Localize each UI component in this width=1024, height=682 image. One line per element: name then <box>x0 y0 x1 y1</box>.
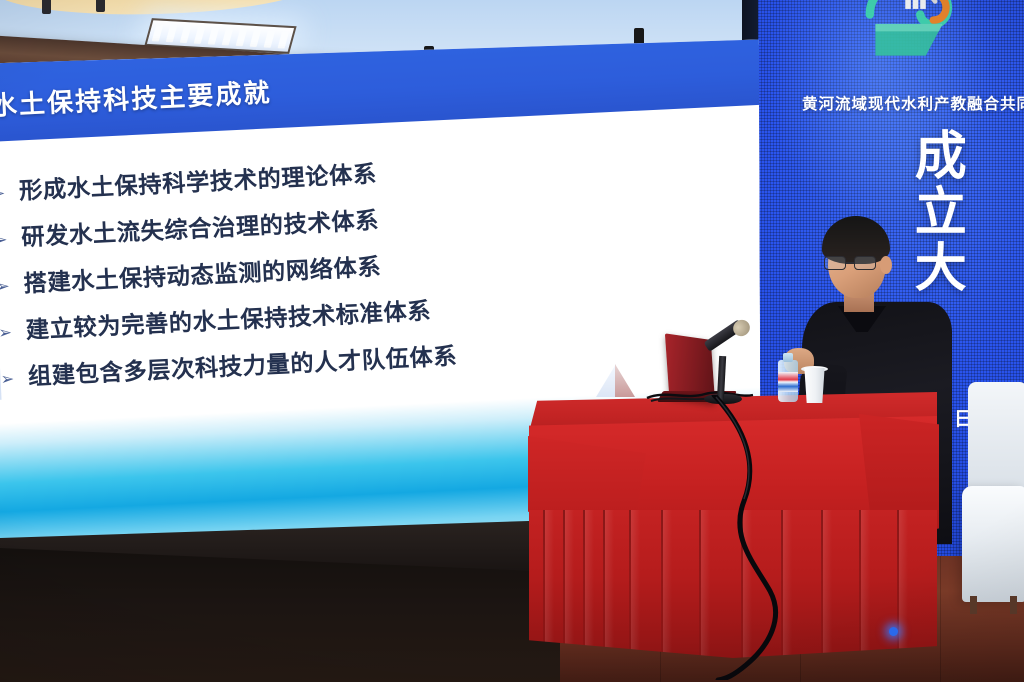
covered-chair <box>962 470 1024 620</box>
bullet-arrow-icon: ➢ <box>0 325 12 342</box>
speaker-ear <box>880 256 892 274</box>
presentation-scene: 黄河流域现代水利产教融合共同 成立大 日 水土保持科技主要成就 五大体系 ➢ 形… <box>0 0 1024 682</box>
ceiling-hook-icon <box>96 0 105 12</box>
water-bottle-label <box>778 372 798 392</box>
slide-bullet-list: ➢ 形成水土保持科学技术的理论体系 ➢ 研发水土流失综合治理的技术体系 ➢ 搭建… <box>0 143 656 406</box>
tent-card-right-face <box>615 364 635 397</box>
glasses-icon <box>824 256 880 271</box>
slide-title-band: 水土保持科技主要成就 <box>0 35 761 147</box>
list-item-label: 建立较为完善的水土保持技术标准体系 <box>25 293 432 346</box>
bullet-arrow-icon: ➢ <box>0 371 14 388</box>
list-item-label: 研发水土流失综合治理的技术体系 <box>21 202 380 253</box>
table-skirt <box>529 510 937 658</box>
glasses-bridge <box>846 262 854 264</box>
bullet-arrow-icon: ➢ <box>0 232 8 249</box>
ceiling-hook-icon <box>42 0 51 14</box>
chair-leg <box>1010 596 1017 614</box>
glasses-lens <box>854 256 876 270</box>
draped-table <box>529 392 937 658</box>
tent-card-left-face <box>596 364 616 397</box>
cable-indicator-light <box>889 627 898 636</box>
bullet-arrow-icon: ➢ <box>0 278 10 295</box>
yellow-river-emblem-icon <box>853 0 965 78</box>
water-bottle-cap <box>783 353 793 362</box>
chair-seat <box>962 486 1024 602</box>
water-bottle[interactable] <box>778 352 798 402</box>
led-wall-banner-text: 黄河流域现代水利产教融合共同 <box>758 92 1024 114</box>
list-item-label: 组建包含多层次科技力量的人才队伍体系 <box>27 338 458 392</box>
list-item-label: 形成水土保持科学技术的理论体系 <box>18 156 377 207</box>
chair-leg <box>970 596 977 614</box>
bullet-arrow-icon: ➢ <box>0 185 6 202</box>
slide-title: 水土保持科技主要成就 <box>0 71 272 122</box>
tent-card <box>596 364 634 397</box>
glasses-lens <box>824 256 846 270</box>
chair-backrest <box>968 382 1024 494</box>
paper-cup[interactable] <box>803 368 826 403</box>
list-item-label: 搭建水土保持动态监测的网络体系 <box>23 249 382 300</box>
